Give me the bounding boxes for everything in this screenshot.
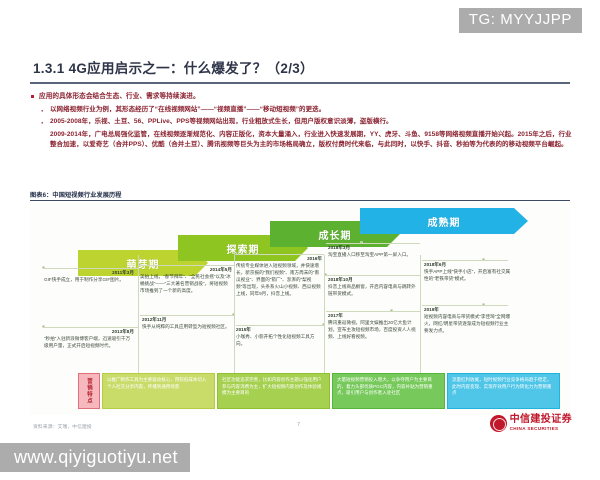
- event-text: “秒拍”入驻新浪微博客户端，迅速吸引千万级用户量，正式开启短视频时代。: [44, 336, 134, 350]
- watermark-bottom: www.qiyiguotiyu.net: [0, 443, 190, 473]
- timeline-event: 2018年6月 快手APP上线“快手小店”，开启富有社交属性的“老铁带货”模式。: [424, 262, 512, 283]
- connector-line: [326, 275, 420, 276]
- stage-label-3: 成熟期: [428, 214, 461, 229]
- connector-line: [44, 268, 138, 269]
- timeline-event: 2015年 小咖秀、小影开拓个性化短视频工具方向。: [236, 327, 322, 348]
- event-text: 腾讯重返微视，阿里文娱推出20亿大鱼计划，宣布主攻短视频市场，百度投资人人视频、…: [328, 320, 416, 341]
- connector-line: [140, 315, 234, 316]
- event-date: 2018年10月: [328, 277, 416, 284]
- event-text: 淘宝直播入口移至淘宝APP第一屏入口。: [328, 252, 416, 259]
- event-text: 快手从纯粹的工具应用转型为短视频社区。: [142, 324, 230, 331]
- marketing-cell-1: 社区功能追求完善，比如内容创作主题以强化用户参与内容消费为主，扩大短视频内容创作…: [217, 373, 330, 409]
- marketing-cell-0: 以推广制作工具为主要驱动核心，用较低成本切入个人社交分享内容，传播到通用场景: [102, 373, 215, 409]
- marketing-cell-3: 流量红利收尾，短时视频行业竞争格局趋于稳定，此时内容变现、实现存效用户行为转化力…: [447, 373, 560, 409]
- timeline-divider-1: [138, 255, 139, 388]
- connector-dot: [360, 241, 363, 244]
- connector-dot: [482, 258, 485, 261]
- event-date: 2015年: [236, 327, 322, 334]
- stage-arrow-mature: 成熟期: [360, 208, 528, 234]
- marketing-cell-2: 大量短视频营销投入增大，以争夺用户为主要目的，着力头部优质PGC内容，内容补贴为…: [332, 373, 445, 409]
- source-note: 资料来源：艾瑞，中信建投: [33, 423, 92, 430]
- timeline-event: 2018年3月 淘宝直播入口移至淘宝APP第一屏入口。: [328, 245, 416, 259]
- marketing-band: 营销特点 以推广制作工具为主要驱动核心，用较低成本切入个人社交分享内容，传播到通…: [78, 373, 560, 409]
- bullet-sub-1: 以网络视频行业为例，其形态经历了“在线视频网站”——“视频直播”——“移动短视频…: [30, 105, 575, 116]
- event-text: 传统专业媒体进入短视频领域，并快速增长，新京报的“我们视频”、南方周末的“南瓜视…: [236, 263, 322, 297]
- connector-line: [326, 243, 420, 244]
- seal-icon: [490, 415, 507, 432]
- timeline-event: 2016年 传统专业媒体进入短视频领域，并快速增长，新京报的“我们视频”、南方周…: [236, 256, 322, 298]
- connector-dot: [234, 252, 237, 255]
- stage-label-2: 成长期: [319, 227, 352, 242]
- timeline-event: 2011年3月 GIF快手成立，用于制作分享GIF图片。: [44, 270, 134, 284]
- timeline-event: 2012年11月 快手从纯粹的工具应用转型为短视频社区。: [142, 317, 230, 331]
- connector-dot: [390, 309, 393, 312]
- timeline-event: 2014年5月 美拍上线，“春节拜年”、“全民社会摇”以及“冰桶挑战”——“三大…: [140, 267, 232, 295]
- event-text: 小咖秀、小影开拓个性化短视频工具方向。: [236, 334, 322, 348]
- event-text: GIF快手成立，用于制作分享GIF图片。: [44, 277, 134, 284]
- connector-dot: [322, 323, 325, 326]
- event-date: 2018年6月: [424, 262, 512, 269]
- title-divider: [30, 82, 570, 84]
- exhibit-caption: 图表6：中国短视频行业发展历程: [30, 190, 122, 199]
- event-date: 2018年3月: [328, 245, 416, 252]
- marketing-band-label-text: 营销特点: [85, 378, 93, 404]
- marketing-band-label: 营销特点: [78, 373, 100, 409]
- connector-line: [236, 254, 324, 255]
- logo-name-en: CHINA SECURITIES: [510, 427, 572, 432]
- event-date: 2016年: [236, 256, 322, 263]
- connector-dot: [232, 313, 235, 316]
- logo-name-cn: 中信建投证券: [510, 415, 572, 426]
- connector-dot: [42, 266, 45, 269]
- event-text: 抖音上线商品橱窗，开启内容电商与跳转外链带货模式。: [328, 284, 416, 298]
- slide-canvas: 1.3.1 4G应用启示之一：什么爆发了？（2/3） 应用的具体形态会结合生态、…: [0, 0, 600, 480]
- company-logo: 中信建投证券 CHINA SECURITIES: [490, 415, 572, 432]
- page-number: 7: [297, 422, 300, 428]
- page-title: 1.3.1 4G应用启示之一：什么爆发了？（2/3）: [33, 57, 314, 77]
- timeline-figure: 萌芽期 探索期 成长期 成熟期: [30, 203, 570, 415]
- connector-line: [326, 311, 420, 312]
- connector-line: [236, 325, 324, 326]
- event-date: 2013年8月: [44, 329, 134, 336]
- connector-dot: [324, 273, 327, 276]
- bullet-main: 应用的具体形态会结合生态、行业、需求等持续演进。: [30, 92, 575, 102]
- timeline-divider-2: [234, 255, 235, 388]
- event-date: 2017年: [328, 313, 416, 320]
- event-date: 2011年3月: [44, 270, 134, 277]
- connector-dot: [42, 325, 45, 328]
- event-text: 美拍上线，“春节拜年”、“全民社会摇”以及“冰桶挑战”——“三大著名营销战役”，…: [140, 274, 232, 295]
- connector-dot: [482, 303, 485, 306]
- connector-line: [44, 327, 138, 328]
- event-date: 2019年: [424, 307, 512, 314]
- watermark-top: TG: MYYJJPP: [459, 8, 582, 33]
- bullet-sub-3: 2009-2014年，广电总局强化监管，在线视频逐渐规范化、内容正版化，资本大量…: [30, 130, 575, 151]
- exhibit-divider: [30, 200, 570, 201]
- event-date: 2012年11月: [142, 317, 230, 324]
- connector-line: [422, 260, 508, 261]
- event-text: 短视频内容电商与带货模式“李佳琦”全网爆火，网红/明星带货逐渐成为短视频行业主要…: [424, 314, 512, 335]
- timeline-divider-4: [420, 255, 421, 388]
- bullet-sub-2: 2005-2008年，乐视、土豆、56、PPLive、PPS等视频网站出现，行业…: [30, 117, 575, 128]
- timeline-event: 2017年 腾讯重返微视，阿里文娱推出20亿大鱼计划，宣布主攻短视频市场，百度投…: [328, 313, 416, 341]
- timeline-event: 2019年 短视频内容电商与带货模式“李佳琦”全网爆火，网红/明星带货逐渐成为短…: [424, 307, 512, 335]
- connector-dot: [138, 263, 141, 266]
- bullet-list: 应用的具体形态会结合生态、行业、需求等持续演进。 以网络视频行业为例，其形态经历…: [30, 92, 575, 151]
- timeline-event: 2018年10月 抖音上线商品橱窗，开启内容电商与跳转外链带货模式。: [328, 277, 416, 298]
- connector-line: [422, 305, 508, 306]
- logo-text: 中信建投证券 CHINA SECURITIES: [510, 415, 572, 431]
- event-date: 2014年5月: [140, 267, 232, 274]
- event-text: 快手APP上线“快手小店”，开启富有社交属性的“老铁带货”模式。: [424, 269, 512, 283]
- timeline-event: 2013年8月 “秒拍”入驻新浪微博客户端，迅速吸引千万级用户量，正式开启短视频…: [44, 329, 134, 350]
- connector-line: [140, 265, 234, 266]
